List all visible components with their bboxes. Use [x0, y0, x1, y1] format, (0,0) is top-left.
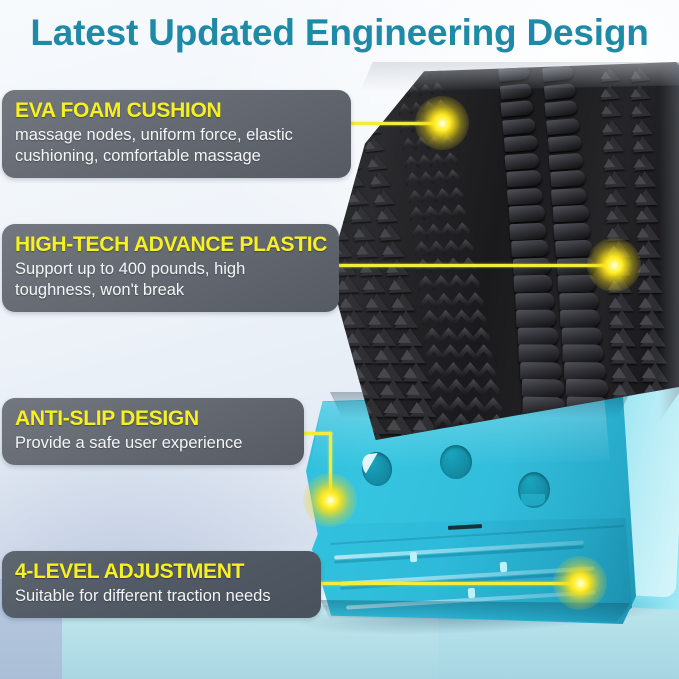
massage-node	[325, 66, 345, 82]
callout-body: Support up to 400 pounds, high toughness…	[15, 259, 325, 301]
callout-heading: 4-LEVEL ADJUSTMENT	[15, 560, 307, 584]
hotspot-4-level-adjustment[interactable]	[553, 556, 607, 610]
massage-node	[357, 101, 378, 117]
callout-eva-foam-cushion[interactable]: EVA FOAM CUSHION massage nodes, uniform …	[2, 90, 351, 178]
hotspot-eva-foam-cushion[interactable]	[415, 96, 469, 150]
adjustment-tab	[410, 552, 418, 562]
hotspot-anti-slip-design[interactable]	[303, 473, 357, 527]
connector-line-high-tech-plastic	[310, 264, 616, 267]
connector-line-4-level	[292, 582, 582, 585]
callout-4-level-adjustment[interactable]: 4-LEVEL ADJUSTMENT Suitable for differen…	[2, 551, 321, 618]
pad-right-rim	[659, 62, 679, 422]
page-title: Latest Updated Engineering Design	[0, 12, 679, 54]
callout-heading: ANTI-SLIP DESIGN	[15, 407, 290, 431]
callout-anti-slip-design[interactable]: ANTI-SLIP DESIGN Provide a safe user exp…	[2, 398, 304, 465]
infographic-canvas: Latest Updated Engineering Design EVA FO…	[0, 0, 679, 679]
callout-high-tech-advance-plastic[interactable]: HIGH-TECH ADVANCE PLASTIC Support up to …	[2, 224, 339, 312]
callout-body: Suitable for different traction needs	[15, 586, 307, 607]
base-vent-hole	[518, 472, 550, 508]
callout-body: massage nodes, uniform force, elastic cu…	[15, 125, 337, 167]
callout-heading: EVA FOAM CUSHION	[15, 99, 337, 123]
massage-node	[322, 188, 343, 205]
adjustment-tab	[468, 588, 476, 598]
callout-body: Provide a safe user experience	[15, 433, 290, 454]
hotspot-high-tech-plastic[interactable]	[587, 238, 641, 292]
callout-heading: HIGH-TECH ADVANCE PLASTIC	[15, 233, 325, 257]
massage-node	[323, 205, 346, 222]
base-vent-hole	[440, 445, 472, 479]
adjustment-tab	[500, 562, 508, 572]
